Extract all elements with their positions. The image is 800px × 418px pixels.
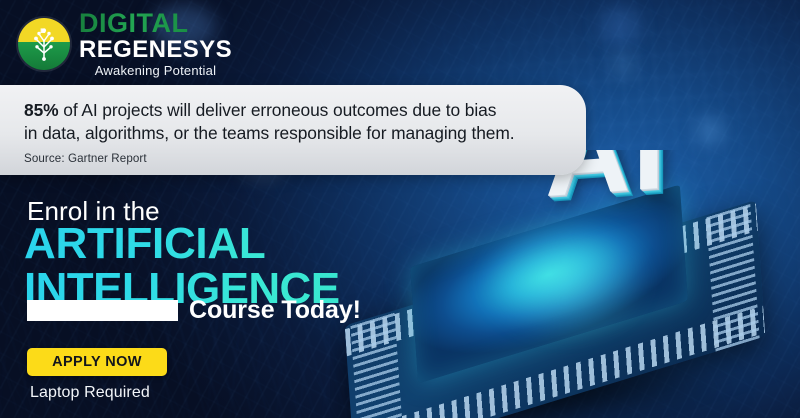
headline-line-1: ARTIFICIAL [24,222,339,265]
statistic-line-1: 85% of AI projects will deliver erroneou… [24,99,556,122]
brand-wordmark: DIGITAL REGENESYS Awakening Potential [79,10,232,77]
apply-now-button[interactable]: APPLY NOW [27,348,167,376]
bokeh-light-icon [612,54,634,76]
statistic-line-2: in data, algorithms, or the teams respon… [24,122,556,145]
course-row: Course Today! [27,296,361,325]
promo-banner: AI DIGITA [0,0,800,418]
laptop-required-note: Laptop Required [30,384,150,402]
tree-circle-emblem-icon [18,18,70,70]
statistic-panel: 85% of AI projects will deliver erroneou… [0,85,586,175]
statistic-highlight: 85% [24,100,59,120]
bokeh-light-icon [697,118,723,144]
microprocessor-chip-icon: AI [330,150,800,418]
brand-name-bottom: REGENESYS [79,38,232,62]
course-suffix: Course Today! [189,296,361,325]
brand-name-top: DIGITAL [79,10,232,37]
statistic-source: Source: Gartner Report [24,152,556,165]
blank-field-bar [27,300,178,321]
brand-logo[interactable]: DIGITAL REGENESYS Awakening Potential [18,10,232,77]
brand-tagline: Awakening Potential [79,64,232,77]
bokeh-light-icon [600,6,640,46]
statistic-line-1-rest: of AI projects will deliver erroneous ou… [59,100,497,120]
